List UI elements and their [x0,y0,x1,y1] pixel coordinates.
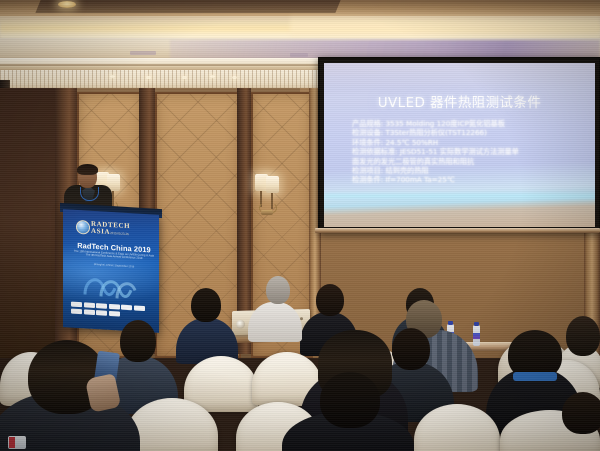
podium: RADTECH ASIA2019.09.23-26 RadTech China … [63,209,159,333]
ceiling-vent [290,53,308,57]
attendee-head [266,276,290,304]
bottle-cap [474,322,479,326]
projection-screen-surface: UVLED 器件热阻测试条件 产品规格: 3535 Molding 120度IC… [324,63,595,227]
projection-screen: UVLED 器件热阻测试条件 产品规格: 3535 Molding 120度IC… [318,57,600,233]
attendee-head [392,328,430,370]
ceiling-vent [130,51,156,55]
badge-accent [9,437,15,448]
sponsor-logo [71,308,82,314]
screen-light-band [324,191,595,201]
ceiling-spot-light [146,76,151,79]
screen-unlit-bottom [324,205,595,227]
globe-icon [76,220,90,235]
sponsor-logo [71,302,82,308]
sponsor-logo [84,302,95,308]
slide-line: 环境条件: 24.5℃ 50%RH [352,138,583,147]
sconce-base [261,210,273,215]
attendee-head [320,372,380,428]
water-bottle [473,325,480,346]
podium-brand-asia: ASIA [91,227,110,236]
slide-line: 检测条件: If=700mA Ta=25℃ [352,175,583,184]
attendee-head [120,320,156,362]
ceiling-spot-light [182,76,187,79]
speaker-hair [77,164,98,175]
slide-line: 产品规格: 3535 Molding 120度ICP氮化铝基板 [352,119,583,128]
attendee-head [562,392,600,434]
podium-brand-line2: ASIA2019.09.23-26 [91,227,129,237]
projector-lens [236,320,245,329]
slide-line: 面发光的发光二极管的真实热阻和阻抗 [352,157,583,166]
sponsor-logo [109,304,120,310]
slide-title: UVLED 器件热阻测试条件 [324,91,595,111]
podium-brand-dates: 2019.09.23-26 [110,231,129,236]
radtech-swoosh-graphic [81,272,145,302]
sponsor-logo [121,305,132,311]
cove-light-glow-right [290,14,600,40]
attendee-head [191,288,221,322]
ceiling-spot-light [210,75,215,78]
ceiling-coffer [35,0,340,13]
sponsor-logo [134,305,145,311]
bottle-label [473,333,480,339]
attendee-lanyard [513,372,557,381]
slide-line: 检测设备: T3Ster热阻分析仪(TST12266) [352,128,583,137]
sponsor-logo [84,309,95,315]
conference-photo: UVLED 器件热阻测试条件 产品规格: 3535 Molding 120度IC… [0,0,600,451]
sponsor-logo [96,310,107,316]
ceiling-lamp [58,1,76,8]
screen-top-glow [324,63,595,89]
slide-body: 产品规格: 3535 Molding 120度ICP氮化铝基板 检测设备: T3… [352,119,583,185]
attendee-head [566,316,600,356]
ceiling-spot-light [110,75,115,78]
sponsor-logo [109,310,120,316]
ceiling-spot-light [232,76,237,79]
screen-bottom-bar [315,228,600,233]
sconce-shade [266,176,279,193]
sponsor-logo [96,303,107,309]
dark-wood-wall-left [0,88,62,358]
attendee-head [316,284,344,316]
bottle-cap [448,321,453,325]
slide-line: 检测依据标准: JESD51-51 实际数学测试方法测量单 [352,147,583,156]
